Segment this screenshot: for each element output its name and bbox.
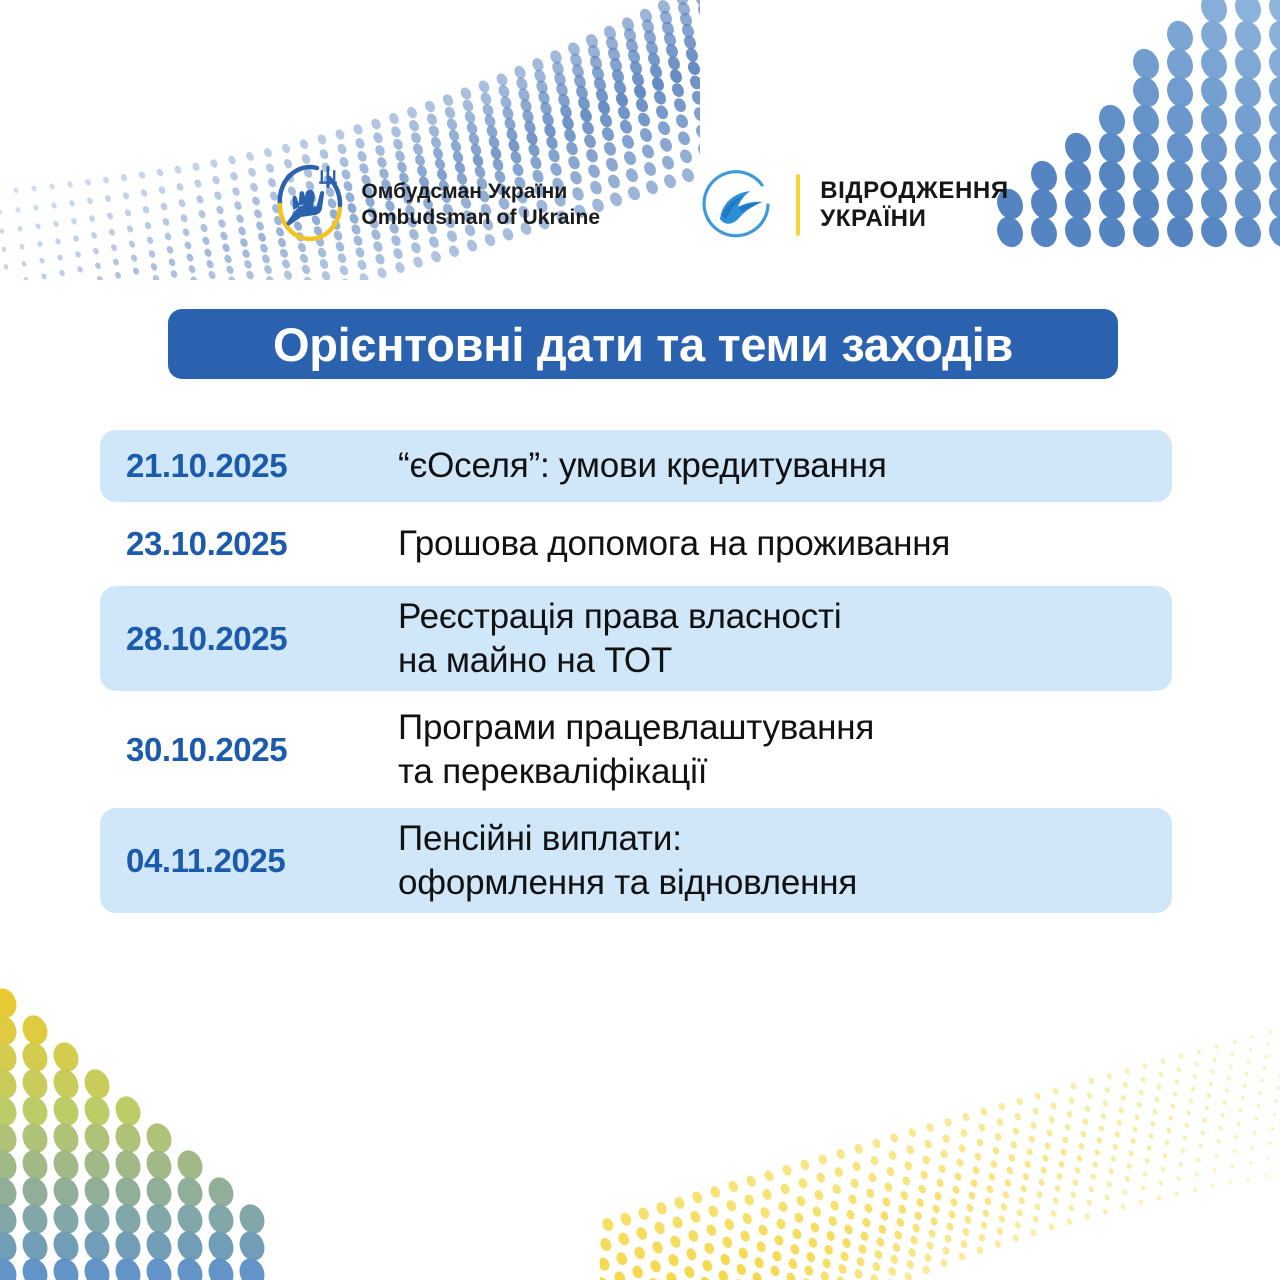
schedule-row-topic: Реєстрація права власностіна майно на ТО…	[398, 595, 1146, 682]
vidrodzhennya-logo-line-2: УКРАЇНИ	[820, 205, 1008, 233]
logo-row: Омбудсман України Ombudsman of Ukraine В…	[0, 160, 1280, 250]
schedule-row-topic: Грошова допомога на проживання	[398, 522, 1146, 565]
ombudsman-emblem-icon	[271, 160, 349, 250]
schedule-row-topic-line: Грошова допомога на проживання	[398, 522, 1146, 565]
infographic-page: Омбудсман України Ombudsman of Ukraine В…	[0, 0, 1280, 1280]
schedule-row-topic: Програми працевлаштуваннята перекваліфік…	[398, 706, 1146, 793]
vidrodzhennya-logo-divider	[796, 174, 800, 236]
page-title: Орієнтовні дати та теми заходів	[273, 321, 1013, 368]
schedule-row-topic-line: на майно на ТОТ	[398, 639, 1146, 682]
schedule-row-topic-line: Програми працевлаштування	[398, 706, 1146, 749]
schedule-table: 21.10.2025“єОселя”: умови кредитування23…	[100, 430, 1172, 919]
schedule-row-date: 30.10.2025	[126, 731, 398, 769]
page-title-banner: Орієнтовні дати та теми заходів	[168, 309, 1118, 379]
ombudsman-logo-line-uk: Омбудсман України	[361, 179, 600, 205]
schedule-row-date: 23.10.2025	[126, 525, 398, 563]
ombudsman-logo-text: Омбудсман України Ombudsman of Ukraine	[361, 179, 600, 230]
schedule-row-date: 04.11.2025	[126, 842, 398, 880]
vidrodzhennya-bird-emblem-icon	[700, 167, 776, 243]
vidrodzhennya-logo-text: ВІДРОДЖЕННЯ УКРАЇНИ	[820, 177, 1008, 234]
schedule-row-topic-line: Пенсійні виплати:	[398, 817, 1146, 860]
dotted-grid-bottom-left-decoration	[0, 970, 290, 1280]
schedule-row: 30.10.2025Програми працевлаштуваннята пе…	[100, 697, 1172, 802]
ombudsman-logo-line-en: Ombudsman of Ukraine	[361, 205, 600, 231]
schedule-row: 28.10.2025Реєстрація права власностіна м…	[100, 586, 1172, 691]
schedule-row-topic-line: Реєстрація права власності	[398, 595, 1146, 638]
dotted-wave-bottom-right-decoration	[600, 990, 1280, 1280]
vidrodzhennya-logo: ВІДРОДЖЕННЯ УКРАЇНИ	[700, 167, 1008, 243]
schedule-row-topic-line: “єОселя”: умови кредитування	[398, 444, 1146, 487]
schedule-row: 04.11.2025Пенсійні виплати:оформлення та…	[100, 808, 1172, 913]
schedule-row-topic-line: та перекваліфікації	[398, 750, 1146, 793]
vidrodzhennya-logo-line-1: ВІДРОДЖЕННЯ	[820, 177, 1008, 205]
schedule-row: 21.10.2025“єОселя”: умови кредитування	[100, 430, 1172, 502]
ombudsman-logo: Омбудсман України Ombudsman of Ukraine	[271, 160, 600, 250]
schedule-row: 23.10.2025Грошова допомога на проживання	[100, 508, 1172, 580]
schedule-row-date: 21.10.2025	[126, 447, 398, 485]
schedule-row-topic: “єОселя”: умови кредитування	[398, 444, 1146, 487]
schedule-row-date: 28.10.2025	[126, 620, 398, 658]
schedule-row-topic-line: оформлення та відновлення	[398, 861, 1146, 904]
schedule-row-topic: Пенсійні виплати:оформлення та відновлен…	[398, 817, 1146, 904]
